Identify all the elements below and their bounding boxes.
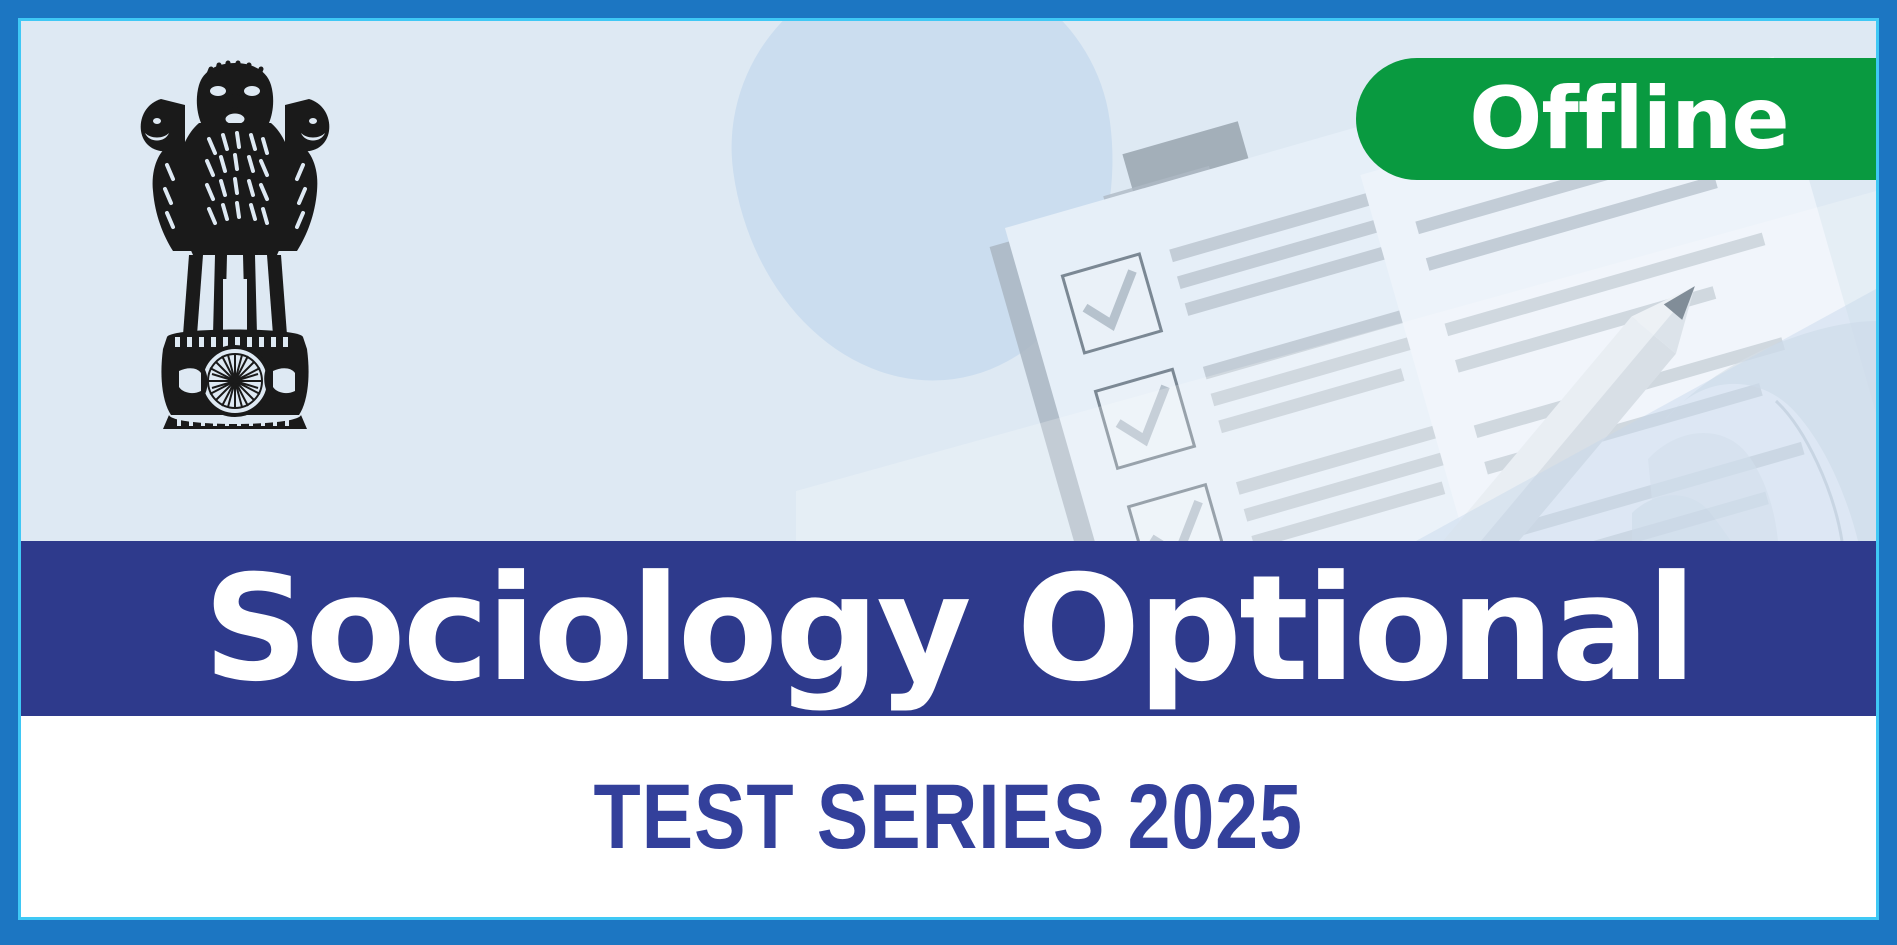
offline-badge-label: Offline: [1469, 76, 1788, 162]
hero-section: Offline: [21, 21, 1876, 541]
course-title: Sociology Optional: [203, 556, 1693, 702]
banner-inner-frame: Offline Sociology Optional TEST SERIES 2…: [18, 18, 1879, 920]
course-subtitle: TEST SERIES 2025: [594, 771, 1303, 863]
offline-status-badge: Offline: [1356, 58, 1876, 180]
course-banner: Offline Sociology Optional TEST SERIES 2…: [0, 0, 1897, 945]
national-emblem-icon: [111, 49, 359, 439]
course-subtitle-band: TEST SERIES 2025: [21, 716, 1876, 917]
course-title-band: Sociology Optional: [21, 541, 1876, 716]
